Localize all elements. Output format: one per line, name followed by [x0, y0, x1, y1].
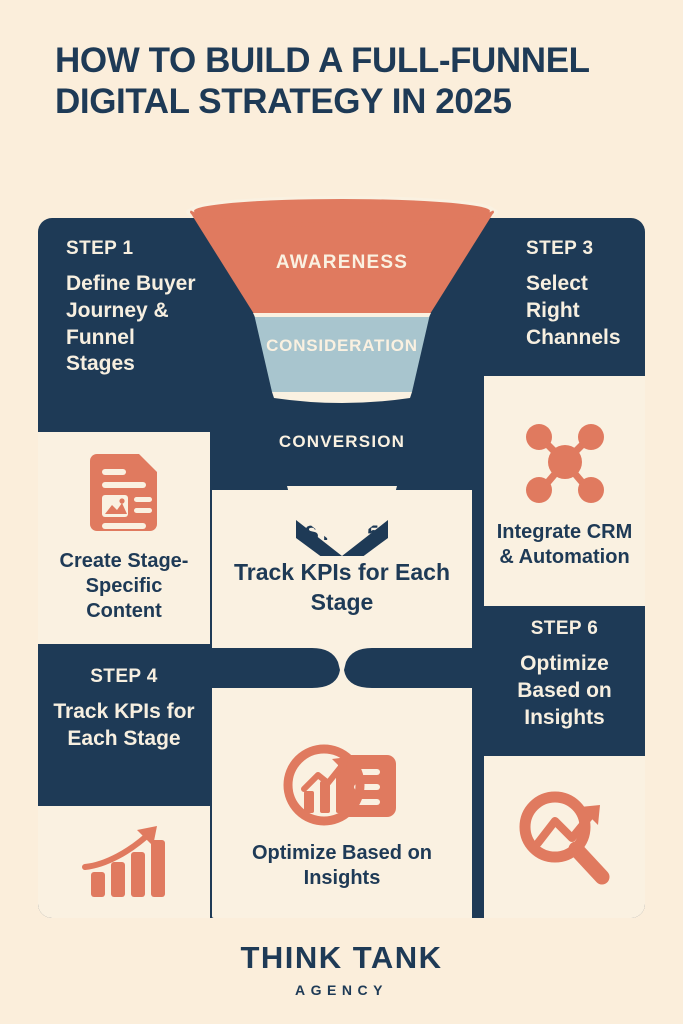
footer-branding: THINK TANK AGENCY [0, 940, 683, 998]
step-3-text: Select Right Channels [526, 271, 643, 352]
center-connector-shape [212, 648, 472, 714]
step-6-block: STEP 6 Optimize Based on Insights [484, 618, 645, 731]
step-4-block: STEP 4 Track KPIs for Each Stage [38, 666, 210, 753]
step-3-number: STEP 3 [526, 238, 643, 261]
analytics-report-icon [278, 739, 406, 831]
step-3-block: STEP 3 Select Right Channels [512, 238, 657, 351]
step-4-text: Track KPIs for Each Stage [52, 699, 196, 753]
page-title: How to Build a Full-Funnel Digital Strat… [55, 40, 635, 123]
step-4-number: STEP 4 [52, 666, 196, 689]
document-image-icon [84, 453, 164, 539]
card-integrate-crm-label: Integrate CRM & Automation [492, 520, 637, 570]
funnel-stage-conversion-label: CONVERSION [186, 432, 498, 452]
brand-tagline: AGENCY [0, 982, 683, 998]
growth-bar-chart-icon [75, 822, 173, 902]
step-5-text: Track KPIs for Each Stage [212, 558, 472, 618]
network-hub-icon [513, 412, 617, 512]
magnifier-trend-icon [510, 783, 620, 891]
card-magnifier[interactable] [484, 756, 645, 918]
step-6-number: STEP 6 [498, 618, 631, 641]
step-6-text: Optimize Based on Insights [498, 651, 631, 732]
card-integrate-crm[interactable]: Integrate CRM & Automation [484, 376, 645, 606]
funnel-spout-chevron-icon [212, 486, 472, 556]
card-create-content[interactable]: Create Stage-Specific Content [38, 432, 210, 644]
card-create-content-label: Create Stage-Specific Content [46, 549, 202, 624]
card-growth-chart[interactable] [38, 806, 210, 918]
brand-name: THINK TANK [0, 940, 683, 976]
card-optimize-insights-label: Optimize Based on Insights [212, 841, 472, 891]
funnel-graphic: AWARENESS CONSIDERATION [186, 196, 498, 426]
card-optimize-insights[interactable]: Optimize Based on Insights [212, 712, 472, 918]
